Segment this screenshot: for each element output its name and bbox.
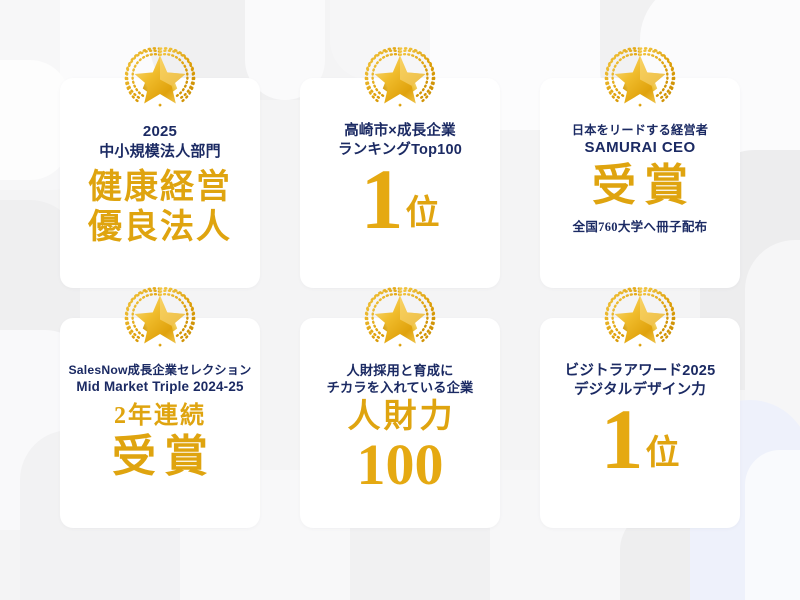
card-heading: 2025 中小規模法人部門 [99,122,221,162]
card-content: 2025 中小規模法人部門 健康経営 優良法人 [60,122,260,245]
card-heading: 日本をリードする経営者 SAMURAI CEO [572,122,708,158]
heading-line: ビジトラアワード2025 [565,362,716,381]
highlight-line: 健康経営 [88,171,232,205]
heading-line: 高崎市×成長企業 [338,122,462,141]
rank-unit: 位 [406,197,440,235]
heading-line: 中小規模法人部門 [99,142,221,162]
rank-unit: 位 [646,437,680,475]
laurel-wreath-three-stars-icon [602,282,678,354]
award-card-jinzairyoku-100[interactable]: 人財採用と育成に チカラを入れている企業 人財力 100 [300,318,500,528]
card-content: 高崎市×成長企業 ランキングTop100 1 位 [300,122,500,235]
rank-number: 1 [361,164,404,235]
award-card-samurai-ceo[interactable]: 日本をリードする経営者 SAMURAI CEO 受賞 全国760大学へ冊子配布 [540,78,740,288]
highlight-line: 100 [357,436,444,494]
award-card-kenko-keiei[interactable]: 2025 中小規模法人部門 健康経営 優良法人 [60,78,260,288]
heading-line: SalesNow成長企業セレクション [68,362,251,378]
card-content: ビジトラアワード2025 デジタルデザイン力 1 位 [540,362,740,475]
highlight-line: 優良法人 [88,211,232,245]
awards-grid: 2025 中小規模法人部門 健康経営 優良法人 [0,0,800,600]
card-content: 人財採用と育成に チカラを入れている企業 人財力 100 [300,362,500,494]
card-note: 全国760大学へ冊子配布 [573,216,708,235]
laurel-wreath-three-stars-icon [602,42,678,114]
heading-line: チカラを入れている企業 [327,379,474,396]
heading-line: 日本をリードする経営者 [572,122,708,138]
heading-line: SAMURAI CEO [572,138,708,158]
rank-number: 1 [601,404,644,475]
laurel-wreath-three-stars-icon [122,42,198,114]
heading-line: 人財採用と育成に [327,362,474,379]
card-content: 日本をリードする経営者 SAMURAI CEO 受賞 全国760大学へ冊子配布 [540,122,740,235]
laurel-wreath-three-stars-icon [362,282,438,354]
card-content: SalesNow成長企業セレクション Mid Market Triple 202… [60,362,260,479]
laurel-wreath-three-stars-icon [362,42,438,114]
card-heading: SalesNow成長企業セレクション Mid Market Triple 202… [68,362,251,396]
highlight-line: 受賞 [104,435,216,479]
laurel-wreath-three-stars-icon [122,282,198,354]
award-card-takasaki-ranking[interactable]: 高崎市×成長企業 ランキングTop100 1 位 [300,78,500,288]
rank-display: 1 位 [601,404,680,475]
highlight-line: 2年連続 [114,404,206,428]
card-heading: 人財採用と育成に チカラを入れている企業 [327,362,474,397]
card-highlight: 健康経営 優良法人 [88,171,232,245]
heading-line: 2025 [99,122,221,142]
highlight-line: 人財力 [345,401,456,434]
highlight-line: 受賞 [584,164,696,208]
award-card-salesnow-mid-market[interactable]: SalesNow成長企業セレクション Mid Market Triple 202… [60,318,260,528]
award-card-visitora-award[interactable]: ビジトラアワード2025 デジタルデザイン力 1 位 [540,318,740,528]
heading-line: Mid Market Triple 2024-25 [68,378,251,396]
rank-display: 1 位 [361,164,440,235]
